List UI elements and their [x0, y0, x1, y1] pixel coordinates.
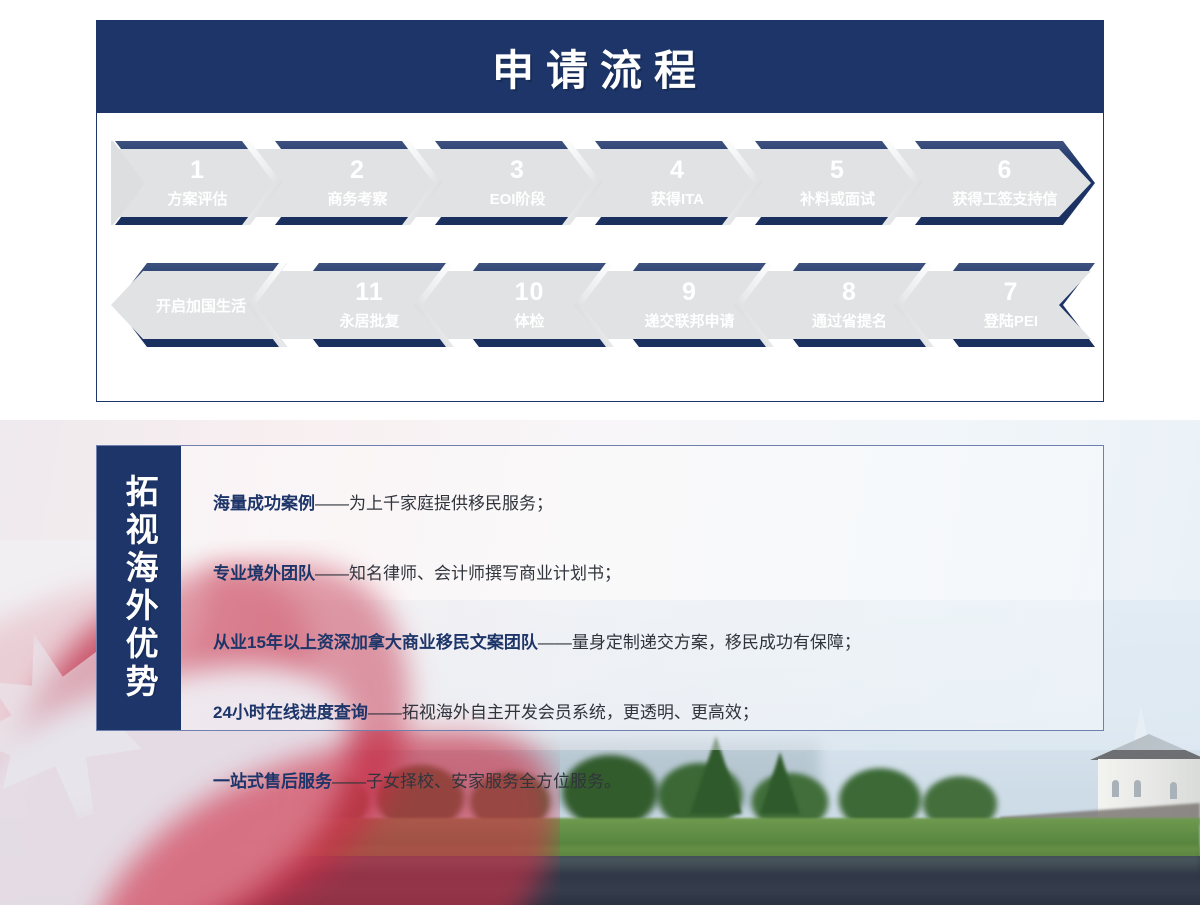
flow-row-reverse: 开启加国生活 11 永居批复 10 体检 9 递交联邦申请 8	[97, 263, 1103, 347]
flow-step-5[interactable]: 5 补料或面试	[755, 141, 920, 225]
advantage-heading: 专业境外团队	[213, 564, 315, 583]
church-window	[1112, 780, 1119, 797]
advantage-heading: 从业15年以上资深加拿大商业移民文案团队	[213, 633, 538, 652]
church-window	[1170, 782, 1177, 799]
flow-step-number: 1	[190, 157, 205, 183]
advantage-detail: ——为上千家庭提供移民服务；	[315, 494, 553, 513]
flow-step-number: 6	[998, 157, 1013, 183]
flow-step-label: 方案评估	[167, 188, 227, 209]
advantages-panel: 拓视海外优势 海量成功案例——为上千家庭提供移民服务； 专业境外团队——知名律师…	[96, 445, 1104, 731]
flow-step-label: 登陆PEI	[984, 310, 1038, 331]
list-item: 24小时在线进度查询——拓视海外自主开发会员系统，更透明、更高效；	[213, 700, 1079, 726]
list-item: 海量成功案例——为上千家庭提供移民服务；	[213, 491, 1079, 517]
flow-step-label: 体检	[514, 310, 544, 331]
church-window	[1134, 780, 1141, 797]
flow-step-10[interactable]: 10 体检	[447, 263, 612, 347]
flow-step-label: 递交联邦申请	[644, 310, 734, 331]
flow-step-2[interactable]: 2 商务考察	[275, 141, 440, 225]
page-title: 申请流程	[492, 37, 708, 98]
flow-step-6[interactable]: 6 获得工签支持信	[915, 141, 1095, 225]
flow-step-8[interactable]: 8 通过省提名	[767, 263, 932, 347]
flow-step-3[interactable]: 3 EOI阶段	[435, 141, 600, 225]
advantage-detail: ——知名律师、会计师撰写商业计划书；	[315, 564, 621, 583]
advantages-sidebar-title: 拓视海外优势	[120, 474, 158, 702]
flow-step-4[interactable]: 4 获得ITA	[595, 141, 760, 225]
flow-step-11[interactable]: 11 永居批复	[287, 263, 452, 347]
flow-step-label: 补料或面试	[800, 188, 875, 209]
advantage-detail: ——拓视海外自主开发会员系统，更透明、更高效；	[368, 703, 759, 722]
flow-step-number: 9	[682, 279, 697, 305]
flow-step-label: 商务考察	[327, 188, 387, 209]
flow-step-final[interactable]: 开启加国生活	[115, 263, 287, 347]
list-item: 专业境外团队——知名律师、会计师撰写商业计划书；	[213, 561, 1079, 587]
flow-step-number: 2	[350, 157, 365, 183]
advantages-sidebar: 拓视海外优势	[97, 446, 181, 730]
application-flow-panel: 申请流程 1 方案评估 2 商务考察 3 EOI阶段	[96, 20, 1104, 402]
advantage-detail: ——子女择校、安家服务全方位服务。	[332, 772, 621, 791]
flow-step-label: 通过省提名	[812, 310, 887, 331]
flow-step-label: 获得ITA	[651, 188, 704, 209]
flow-step-number: 4	[670, 157, 685, 183]
list-item: 从业15年以上资深加拿大商业移民文案团队——量身定制递交方案，移民成功有保障；	[213, 630, 1079, 656]
flow-step-label: 获得工签支持信	[952, 188, 1057, 209]
flow-step-number: 5	[830, 157, 845, 183]
flow-row-forward: 1 方案评估 2 商务考察 3 EOI阶段 4 获得ITA 5	[97, 141, 1103, 225]
advantage-heading: 24小时在线进度查询	[213, 703, 368, 722]
flow-step-number: 11	[355, 279, 383, 305]
flow-step-label: 开启加国生活	[156, 295, 246, 316]
advantage-heading: 海量成功案例	[213, 494, 315, 513]
advantage-detail: ——量身定制递交方案，移民成功有保障；	[538, 633, 861, 652]
flow-header: 申请流程	[97, 21, 1103, 113]
advantage-heading: 一站式售后服务	[213, 772, 332, 791]
flow-step-number: 3	[510, 157, 525, 183]
flow-step-7[interactable]: 7 登陆PEI	[927, 263, 1095, 347]
list-item: 一站式售后服务——子女择校、安家服务全方位服务。	[213, 769, 1079, 795]
flow-step-9[interactable]: 9 递交联邦申请	[607, 263, 772, 347]
flow-step-number: 10	[515, 279, 545, 305]
flow-step-number: 7	[1004, 279, 1019, 305]
flow-step-label: 永居批复	[339, 310, 399, 331]
flow-step-label: EOI阶段	[490, 188, 546, 209]
advantages-list: 海量成功案例——为上千家庭提供移民服务； 专业境外团队——知名律师、会计师撰写商…	[181, 446, 1103, 730]
flow-step-number: 8	[842, 279, 857, 305]
